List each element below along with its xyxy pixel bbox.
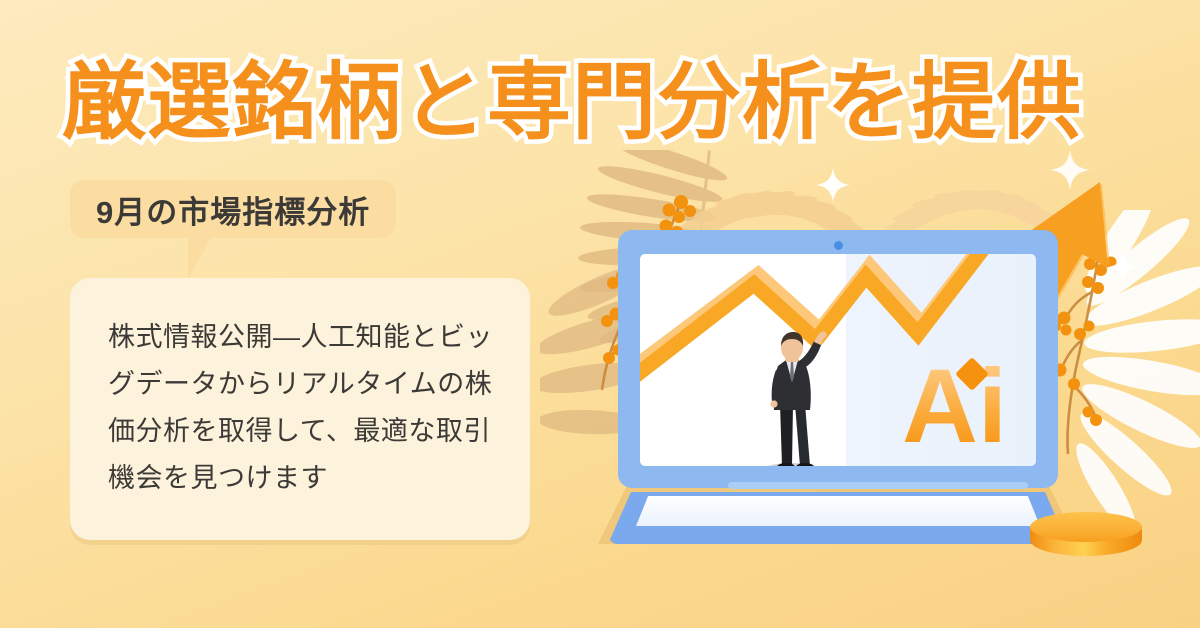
- laptop-camera-icon: [834, 241, 843, 250]
- page-title: 厳選銘柄と専門分析を提供: [62, 50, 1152, 158]
- badge-label: 9月の市場指標分析: [96, 187, 370, 232]
- description-bubble: 株式情報公開—人工知能とビッグデータからリアルタイムの株価分析を取得して、最適な…: [70, 278, 530, 540]
- ai-wordmark: Ai: [902, 354, 1007, 459]
- laptop-illustration: Ai: [608, 230, 1068, 550]
- sparkle-star-icon: [816, 168, 850, 202]
- promo-banner: Ai: [0, 0, 1200, 628]
- laptop-screen: Ai: [640, 254, 1036, 466]
- laptop-hinge: [728, 482, 1028, 489]
- laptop-keyboard-deck: [636, 496, 1040, 526]
- gold-coin: [1030, 512, 1142, 564]
- coin-face: [1030, 512, 1142, 542]
- description-text: 株式情報公開—人工知能とビッグデータからリアルタイムの株価分析を取得して、最適な…: [108, 314, 498, 502]
- badge-tail: [188, 236, 212, 280]
- laptop-lid: Ai: [618, 230, 1058, 488]
- status-badge: 9月の市場指標分析: [70, 180, 396, 238]
- businessman-figure: [752, 330, 832, 466]
